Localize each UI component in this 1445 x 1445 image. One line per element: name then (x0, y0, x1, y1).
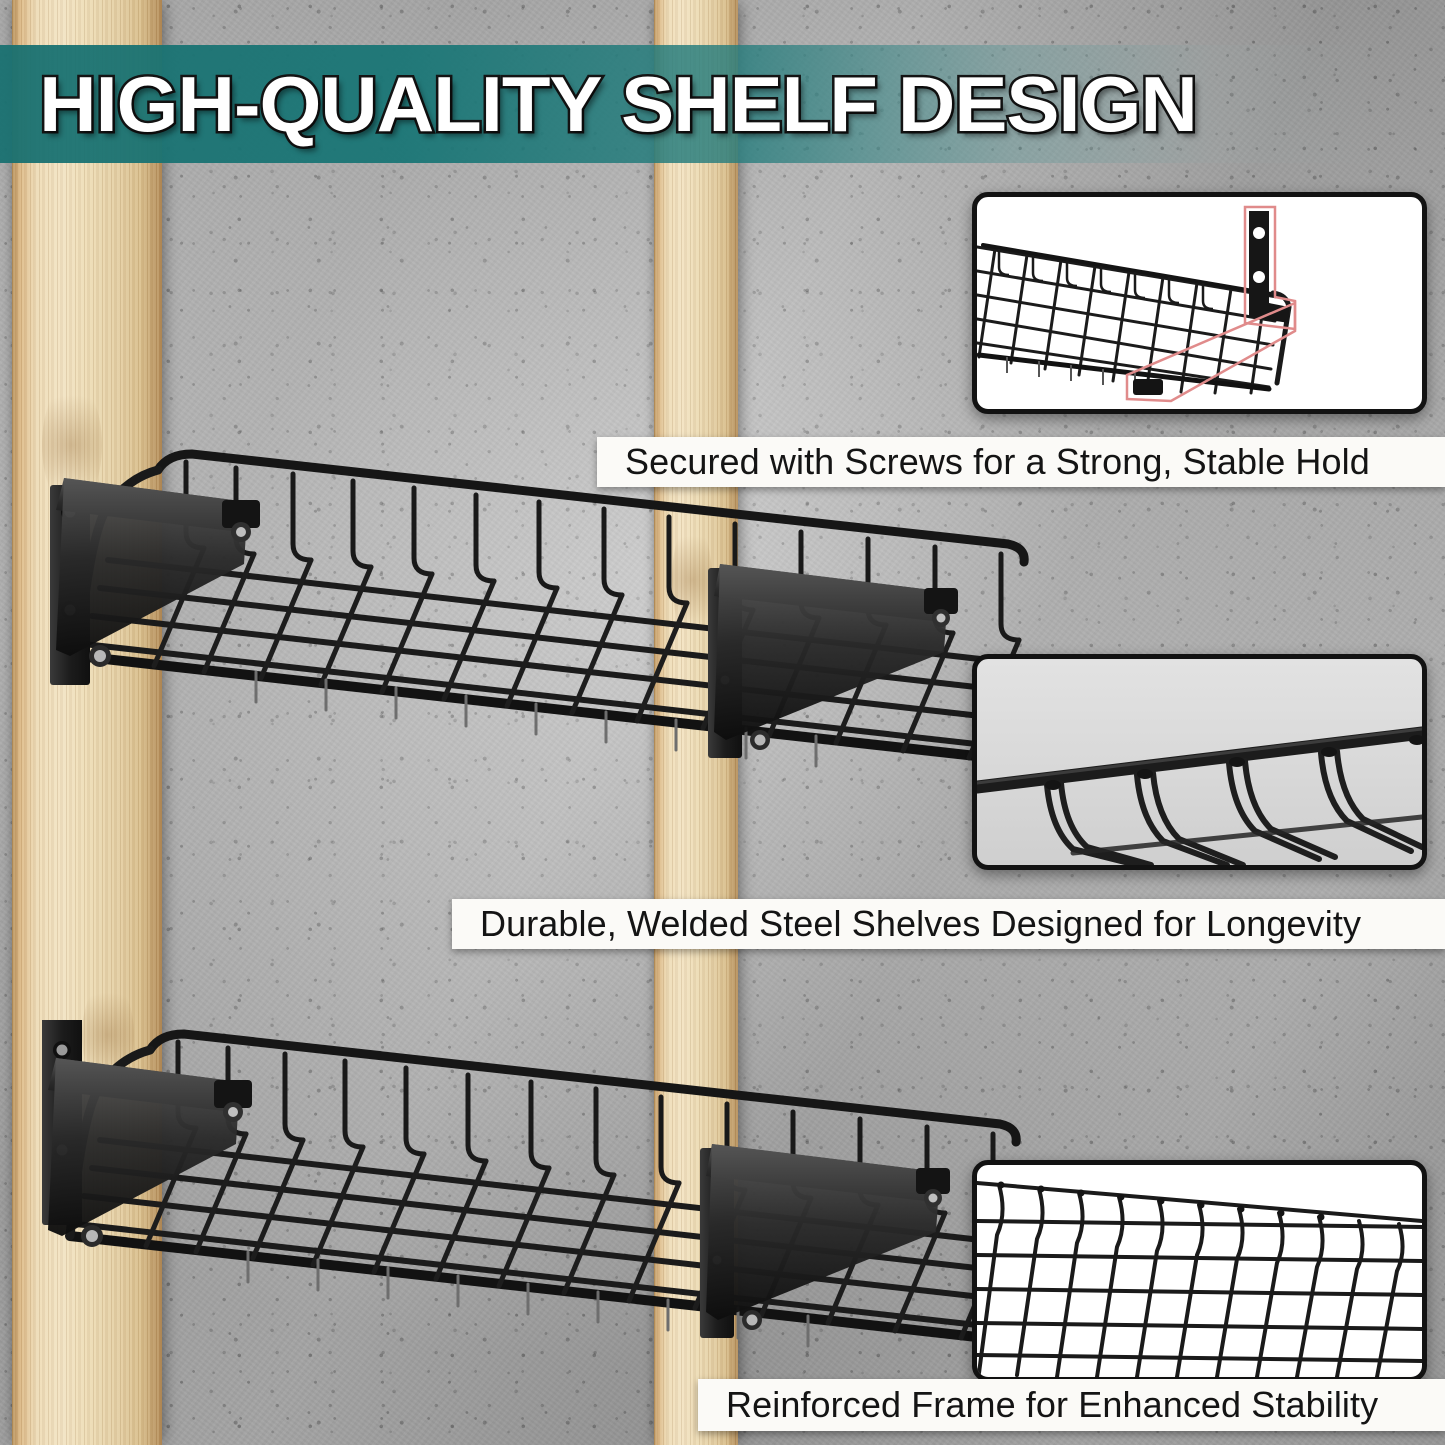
inset-weld-closeup (972, 654, 1427, 870)
caption-screws: Secured with Screws for a Strong, Stable… (597, 437, 1445, 487)
caption-screws-text: Secured with Screws for a Strong, Stable… (625, 441, 1370, 483)
inset-bracket-closeup (972, 192, 1427, 414)
caption-welded: Durable, Welded Steel Shelves Designed f… (452, 899, 1445, 949)
page-title: HIGH-QUALITY SHELF DESIGN (0, 65, 1197, 143)
product-infographic: HIGH-QUALITY SHELF DESIGN (0, 0, 1445, 1445)
inset-mesh-closeup (972, 1160, 1427, 1382)
caption-welded-text: Durable, Welded Steel Shelves Designed f… (480, 903, 1361, 945)
title-banner: HIGH-QUALITY SHELF DESIGN (0, 45, 1445, 163)
caption-frame: Reinforced Frame for Enhanced Stability (698, 1379, 1445, 1431)
caption-frame-text: Reinforced Frame for Enhanced Stability (726, 1384, 1378, 1426)
shelf-upper (8, 440, 1048, 770)
shelf-lower (0, 1020, 1040, 1350)
